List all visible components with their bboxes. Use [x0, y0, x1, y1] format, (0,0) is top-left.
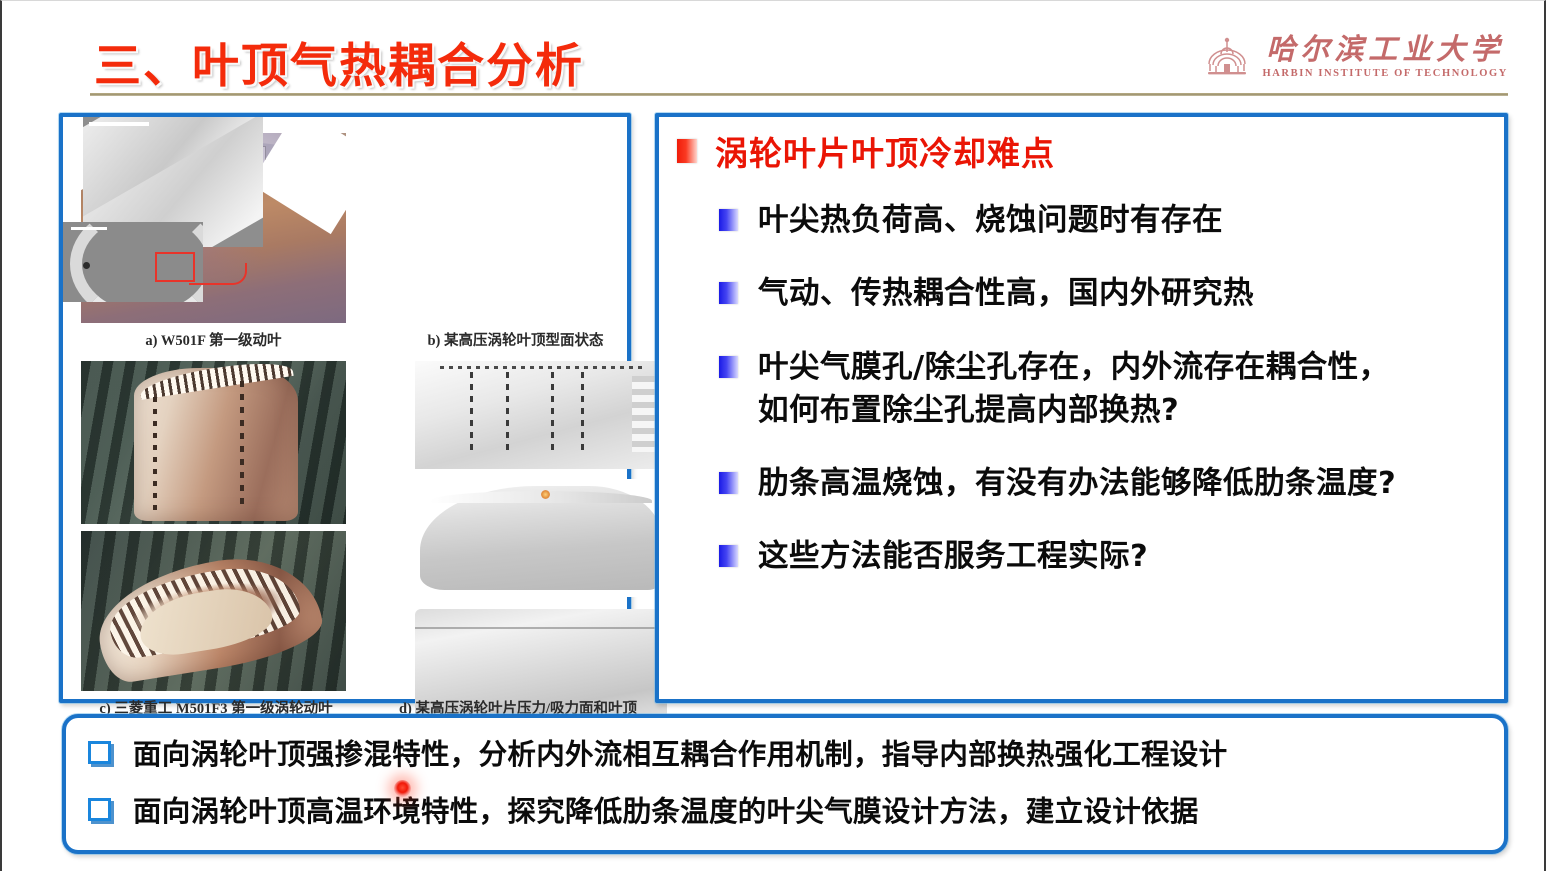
- photo-m501f3-tip: [81, 531, 346, 691]
- photo-m501f3-side: [81, 361, 346, 524]
- list-item-label: 叶尖气膜孔/除尘孔存在，内外流存在耦合性， 如何布置除尘孔提高内部换热?: [758, 346, 1390, 433]
- list-item: 叶尖热负荷高、烧蚀问题时有存在: [719, 199, 1509, 242]
- figure-panel: a) W501F 第一级动叶 b) 某高压涡轮叶顶型面状态: [59, 113, 631, 703]
- photo-blade-tip: [415, 479, 667, 597]
- hollow-square-bullet-icon: [88, 741, 111, 764]
- objective-row: 面向涡轮叶顶高温环境特性，探究降低肋条温度的叶尖气膜设计方法，建立设计依据: [88, 789, 1504, 830]
- list-item: 肋条高温烧蚀，有没有办法能够降低肋条温度?: [719, 462, 1509, 505]
- difficulties-list: 叶尖热负荷高、烧蚀问题时有存在 气动、传热耦合性高，国内外研究热 叶尖气膜孔/除…: [719, 199, 1509, 609]
- list-item: 这些方法能否服务工程实际?: [719, 535, 1509, 578]
- figure-caption-b: b) 某高压涡轮叶顶型面状态: [393, 329, 638, 350]
- hit-crest-icon: [1204, 34, 1250, 80]
- red-square-bullet-icon: [677, 139, 697, 163]
- hollow-square-bullet-icon: [88, 798, 111, 821]
- sem-roi-connector: [189, 263, 247, 285]
- blue-square-bullet-icon: [719, 356, 738, 378]
- list-item-label: 气动、传热耦合性高，国内外研究热: [758, 272, 1254, 315]
- difficulties-heading: 涡轮叶片叶顶冷却难点: [715, 127, 1055, 175]
- slide-header: 三、叶顶气热耦合分析: [2, 1, 1546, 101]
- list-item-label: 叶尖热负荷高、烧蚀问题时有存在: [758, 199, 1223, 242]
- blue-square-bullet-icon: [719, 282, 738, 304]
- university-logo: 哈尔滨工业大学 HARBIN INSTITUTE OF TECHNOLOGY: [1204, 34, 1508, 80]
- title-divider: [90, 93, 1508, 96]
- list-item-label: 这些方法能否服务工程实际?: [758, 535, 1148, 578]
- difficulties-panel: 涡轮叶片叶顶冷却难点 叶尖热负荷高、烧蚀问题时有存在 气动、传热耦合性高，国内外…: [655, 113, 1508, 703]
- blue-square-bullet-icon: [719, 472, 738, 494]
- logo-name-en: HARBIN INSTITUTE OF TECHNOLOGY: [1262, 69, 1508, 80]
- objective-label: 面向涡轮叶顶高温环境特性，探究降低肋条温度的叶尖气膜设计方法，建立设计依据: [133, 789, 1199, 830]
- slide-frame: 三、叶顶气热耦合分析: [0, 0, 1546, 871]
- logo-wordmark: 哈尔滨工业大学 HARBIN INSTITUTE OF TECHNOLOGY: [1262, 35, 1508, 80]
- photo-pressure-side: [415, 361, 667, 469]
- page-title: 三、叶顶气热耦合分析: [94, 27, 584, 96]
- figure-caption-a: a) W501F 第一级动叶: [81, 329, 346, 350]
- list-item: 气动、传热耦合性高，国内外研究热: [719, 272, 1509, 315]
- logo-name-cn: 哈尔滨工业大学: [1266, 35, 1504, 64]
- photo-tip-sem: [63, 117, 263, 302]
- objective-row: 面向涡轮叶顶强掺混特性，分析内外流相互耦合作用机制，指导内部换热强化工程设计: [88, 732, 1504, 773]
- objective-label: 面向涡轮叶顶强掺混特性，分析内外流相互耦合作用机制，指导内部换热强化工程设计: [133, 732, 1227, 773]
- blue-square-bullet-icon: [719, 545, 738, 567]
- blue-square-bullet-icon: [719, 209, 738, 231]
- objectives-panel: 面向涡轮叶顶强掺混特性，分析内外流相互耦合作用机制，指导内部换热强化工程设计 面…: [62, 714, 1508, 854]
- difficulties-heading-row: 涡轮叶片叶顶冷却难点: [677, 127, 1055, 175]
- list-item-label: 肋条高温烧蚀，有没有办法能够降低肋条温度?: [758, 462, 1396, 505]
- list-item: 叶尖气膜孔/除尘孔存在，内外流存在耦合性， 如何布置除尘孔提高内部换热?: [719, 346, 1509, 433]
